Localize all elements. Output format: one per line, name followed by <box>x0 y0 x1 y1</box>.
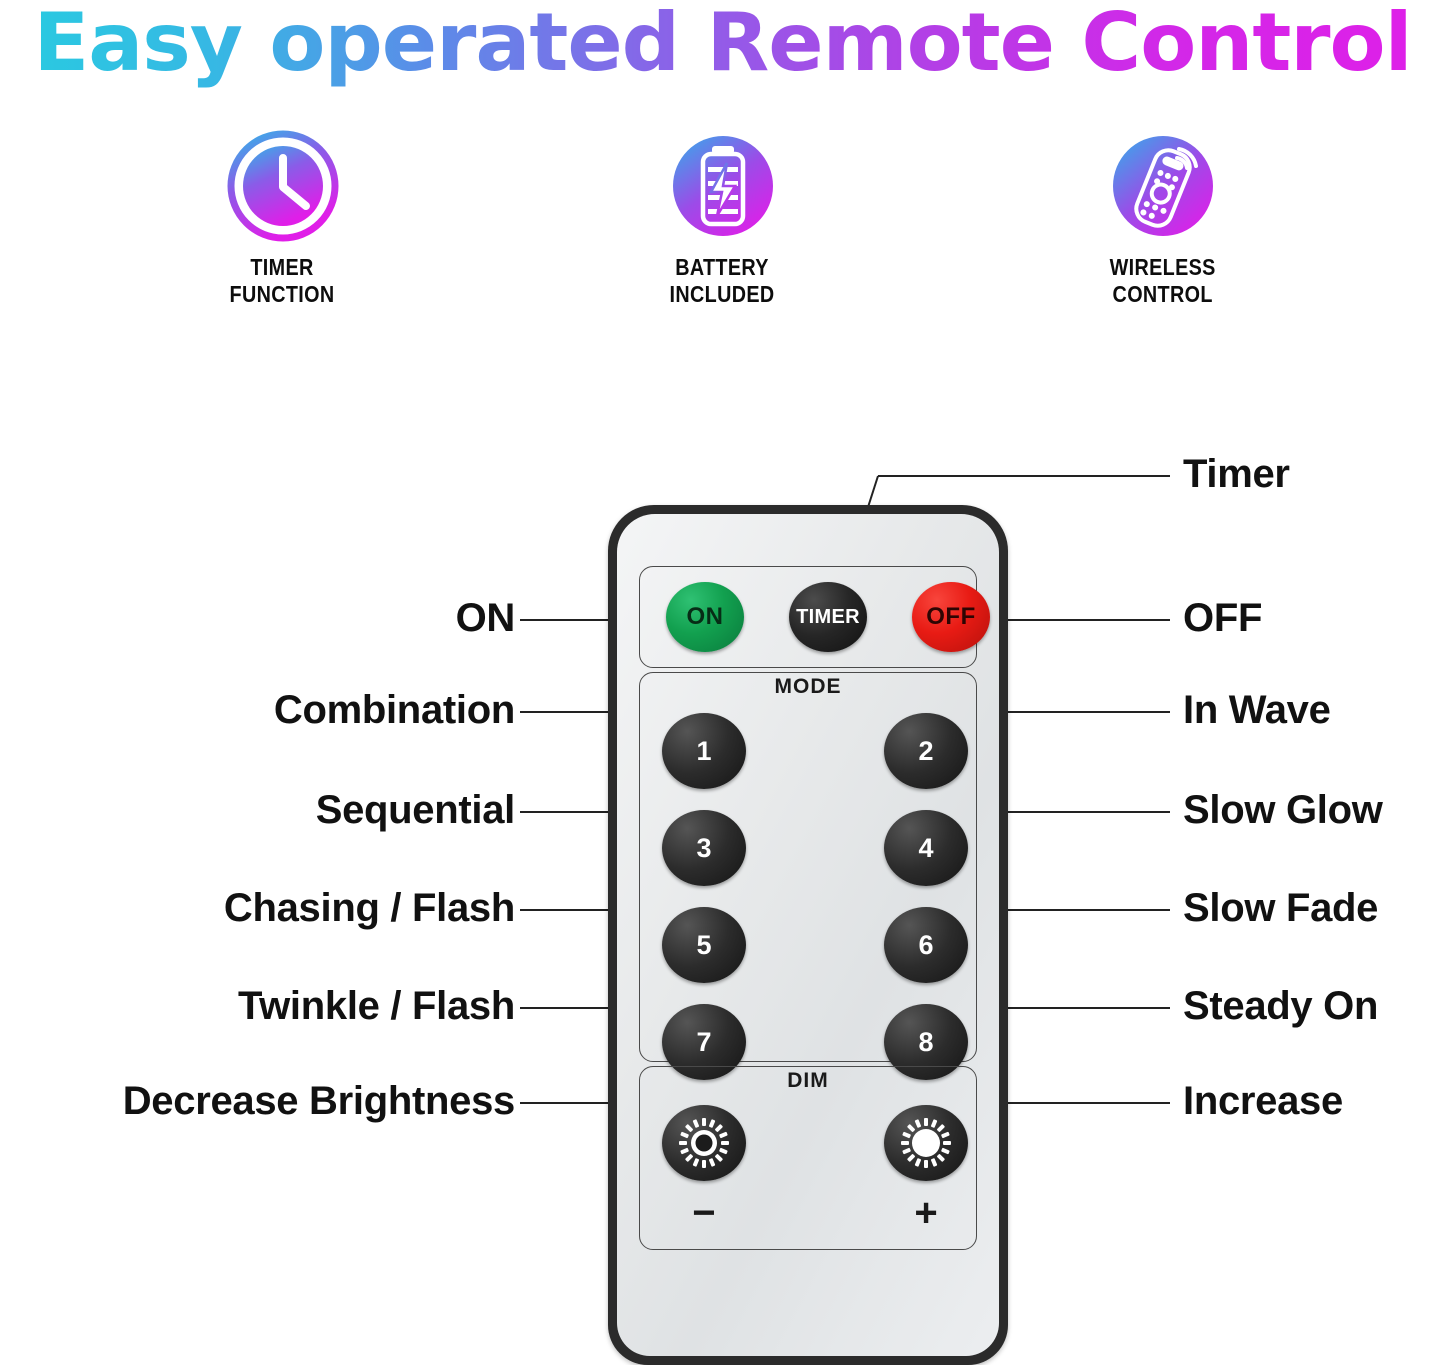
mode-button-group: MODE 1 2 3 4 5 6 7 8 <box>639 672 977 1062</box>
increase-brightness-button[interactable] <box>884 1105 968 1181</box>
mode-button-6[interactable]: 6 <box>884 907 968 983</box>
feature-label: BATTERY INCLUDED <box>670 254 775 308</box>
page-title: Easy operated Remote Control <box>0 0 1445 89</box>
callout-on: ON <box>456 596 515 641</box>
feature-wireless-control: WIRELESS CONTROL <box>1058 130 1268 308</box>
callout-off: OFF <box>1183 596 1262 641</box>
off-button[interactable]: OFF <box>912 582 990 652</box>
callout-timer: Timer <box>1183 452 1290 497</box>
remote-faceplate: ON TIMER OFF MODE 1 2 3 4 5 6 7 8 DIM <box>617 514 999 1356</box>
sun-dim-icon <box>678 1117 730 1169</box>
feature-badges: TIMER FUNCTION <box>0 130 1445 308</box>
mode-group-label: MODE <box>640 675 976 699</box>
feature-label: TIMER FUNCTION <box>230 254 335 308</box>
callout-twinkle-flash: Twinkle / Flash <box>238 984 515 1029</box>
dim-group-label: DIM <box>640 1069 976 1093</box>
dim-plus-label: + <box>884 1193 968 1233</box>
callout-steady-on: Steady On <box>1183 984 1378 1029</box>
mode-button-2[interactable]: 2 <box>884 713 968 789</box>
callout-sequential: Sequential <box>316 788 515 833</box>
decrease-brightness-button[interactable] <box>662 1105 746 1181</box>
timer-button[interactable]: TIMER <box>789 582 867 652</box>
mode-button-1[interactable]: 1 <box>662 713 746 789</box>
callout-slow-glow: Slow Glow <box>1183 788 1383 833</box>
feature-battery-included: BATTERY INCLUDED <box>618 130 828 308</box>
on-button[interactable]: ON <box>666 582 744 652</box>
mode-button-3[interactable]: 3 <box>662 810 746 886</box>
callout-in-wave: In Wave <box>1183 688 1331 733</box>
callout-decrease-brightness: Decrease Brightness <box>123 1079 515 1124</box>
callout-combination: Combination <box>274 688 515 733</box>
mode-button-4[interactable]: 4 <box>884 810 968 886</box>
callout-increase: Increase <box>1183 1079 1343 1124</box>
callout-slow-fade: Slow Fade <box>1183 886 1378 931</box>
feature-label: WIRELESS CONTROL <box>1109 254 1215 308</box>
sun-bright-icon <box>900 1117 952 1169</box>
callout-chasing-flash: Chasing / Flash <box>224 886 515 931</box>
dim-button-group: DIM <box>639 1066 977 1250</box>
feature-timer-function: TIMER FUNCTION <box>178 130 388 308</box>
clock-icon <box>227 130 339 242</box>
remote-control: ON TIMER OFF MODE 1 2 3 4 5 6 7 8 DIM <box>608 505 1008 1365</box>
power-button-group: ON TIMER OFF <box>639 566 977 668</box>
battery-icon <box>667 130 779 242</box>
remote-icon <box>1107 130 1219 242</box>
dim-minus-label: − <box>662 1193 746 1233</box>
mode-button-5[interactable]: 5 <box>662 907 746 983</box>
